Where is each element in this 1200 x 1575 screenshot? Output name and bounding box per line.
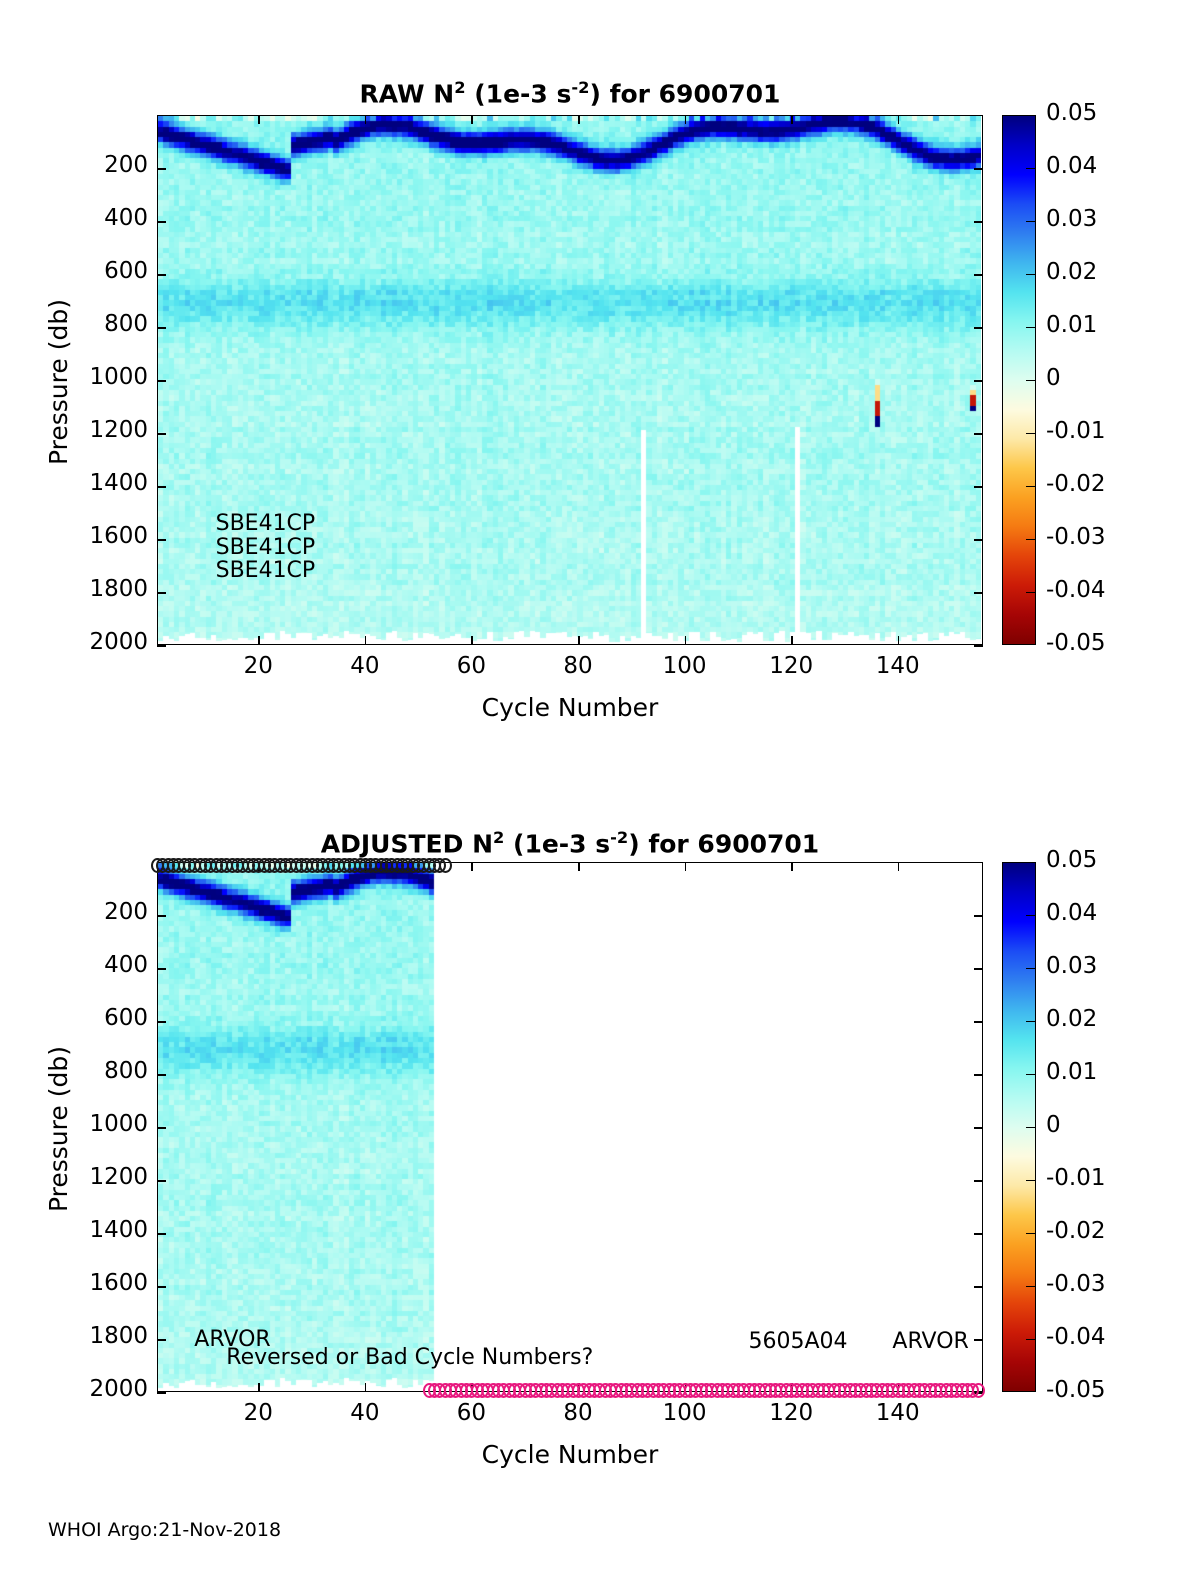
x-axis-tick-mark <box>258 115 260 124</box>
colorbar-tick-label: 0.02 <box>1046 259 1097 285</box>
colorbar-tick-mark <box>1026 1233 1035 1234</box>
y-axis-tick-label: 800 <box>104 311 148 337</box>
plot-annotation: Reversed or Bad Cycle Numbers? <box>226 1345 593 1370</box>
x-axis-label-raw: Cycle Number <box>157 693 983 722</box>
y-axis-tick-mark <box>974 327 983 329</box>
colorbar-tick-label: -0.01 <box>1046 418 1106 444</box>
chart-title-units-exponent: -2 <box>571 78 589 97</box>
colorbar-tick-label: -0.05 <box>1046 1377 1106 1403</box>
y-axis-tick-label: 1600 <box>89 1270 148 1296</box>
x-axis-tick-mark <box>578 115 580 124</box>
colorbar-tick-mark <box>1026 1339 1035 1340</box>
y-axis-tick-mark <box>157 1074 166 1076</box>
y-axis-tick-mark <box>157 1286 166 1288</box>
y-axis-tick-label: 400 <box>104 952 148 978</box>
colorbar-tick-mark <box>1026 1074 1035 1075</box>
y-axis-tick-label: 1000 <box>89 364 148 390</box>
x-axis-tick-label: 120 <box>751 1400 831 1426</box>
y-axis-tick-mark <box>974 1180 983 1182</box>
colorbar-tick-mark <box>1026 1180 1035 1181</box>
colorbar-tick-mark <box>1026 221 1035 222</box>
colorbar-tick-mark <box>1026 592 1035 593</box>
y-axis-tick-mark <box>157 327 166 329</box>
colorbar-tick-label: -0.02 <box>1046 1218 1106 1244</box>
plot-annotation: SBE41CP <box>216 558 316 583</box>
chart-title-text: RAW N <box>360 79 455 108</box>
colorbar-tick-label: -0.05 <box>1046 630 1106 656</box>
y-axis-tick-label: 1400 <box>89 470 148 496</box>
y-axis-tick-mark <box>974 1286 983 1288</box>
colorbar-tick-label: -0.03 <box>1046 524 1106 550</box>
chart-title-text: ADJUSTED N <box>321 829 493 858</box>
plot-annotation: SBE41CP <box>216 535 316 560</box>
y-axis-tick-mark <box>157 645 166 647</box>
x-axis-tick-mark <box>685 115 687 124</box>
y-axis-tick-label: 1000 <box>89 1111 148 1137</box>
y-axis-tick-mark <box>157 592 166 594</box>
x-axis-tick-label: 20 <box>218 653 298 679</box>
x-axis-tick-mark <box>898 636 900 645</box>
colorbar-tick-label: 0.02 <box>1046 1006 1097 1032</box>
x-axis-tick-mark <box>365 636 367 645</box>
chart-title-units: (1e-3 s <box>504 829 610 858</box>
y-axis-tick-mark <box>157 539 166 541</box>
colorbar-tick-label: 0.03 <box>1046 953 1097 979</box>
y-axis-tick-mark <box>974 1021 983 1023</box>
x-axis-tick-label: 40 <box>325 653 405 679</box>
colorbar-tick-mark <box>1026 539 1035 540</box>
colorbar-tick-label: 0.04 <box>1046 900 1097 926</box>
y-axis-tick-mark <box>157 1233 166 1235</box>
cycle-marker <box>439 858 452 873</box>
y-axis-tick-mark <box>157 968 166 970</box>
colorbar-tick-mark <box>1026 168 1035 169</box>
x-axis-tick-label: 100 <box>645 1400 725 1426</box>
plot-annotation: ARVOR <box>892 1329 968 1354</box>
x-axis-tick-label: 140 <box>858 1400 938 1426</box>
x-axis-tick-label: 80 <box>538 1400 618 1426</box>
y-axis-tick-mark <box>974 1127 983 1129</box>
x-axis-tick-mark <box>471 862 473 871</box>
y-axis-tick-label: 400 <box>104 205 148 231</box>
y-axis-tick-mark <box>157 221 166 223</box>
x-axis-tick-label: 60 <box>431 1400 511 1426</box>
chart-title-exponent: 2 <box>454 78 465 97</box>
colorbar-tick-label: 0.05 <box>1046 100 1097 126</box>
plot-annotation: SBE41CP <box>216 511 316 536</box>
y-axis-tick-mark <box>974 1074 983 1076</box>
y-axis-tick-mark <box>157 274 166 276</box>
colorbar-tick-mark <box>1026 486 1035 487</box>
x-axis-tick-mark <box>258 1383 260 1392</box>
chart-title-exponent: 2 <box>493 828 504 847</box>
colorbar-tick-mark <box>1026 1127 1035 1128</box>
x-axis-tick-mark <box>471 636 473 645</box>
y-axis-tick-mark <box>974 380 983 382</box>
chart-title-units-exponent: -2 <box>610 828 628 847</box>
x-axis-tick-mark <box>898 115 900 124</box>
colorbar-tick-label: 0.03 <box>1046 206 1097 232</box>
x-axis-tick-label: 20 <box>218 1400 298 1426</box>
footer-credit: WHOI Argo:21-Nov-2018 <box>48 1519 281 1541</box>
y-axis-tick-label: 200 <box>104 899 148 925</box>
y-axis-tick-mark <box>157 1180 166 1182</box>
y-axis-tick-label: 1800 <box>89 576 148 602</box>
y-axis-tick-label: 1600 <box>89 523 148 549</box>
x-axis-tick-mark <box>685 636 687 645</box>
heatmap-plot-adjusted[interactable] <box>157 862 983 1392</box>
y-axis-tick-mark <box>974 645 983 647</box>
x-axis-tick-mark <box>578 636 580 645</box>
y-axis-tick-mark <box>974 433 983 435</box>
y-axis-tick-mark <box>157 1021 166 1023</box>
x-axis-tick-label: 40 <box>325 1400 405 1426</box>
y-axis-tick-label: 600 <box>104 258 148 284</box>
y-axis-tick-label: 200 <box>104 152 148 178</box>
y-axis-tick-mark <box>157 1339 166 1341</box>
y-axis-tick-mark <box>157 1392 166 1394</box>
y-axis-tick-mark <box>974 221 983 223</box>
x-axis-tick-mark <box>791 862 793 871</box>
cycle-marker <box>972 1383 985 1398</box>
x-axis-tick-mark <box>365 1383 367 1392</box>
x-axis-tick-mark <box>898 862 900 871</box>
y-axis-tick-mark <box>157 433 166 435</box>
colorbar-tick-mark <box>1026 433 1035 434</box>
y-axis-tick-mark <box>974 168 983 170</box>
y-axis-tick-label: 1800 <box>89 1323 148 1349</box>
colorbar-tick-label: -0.03 <box>1046 1271 1106 1297</box>
y-axis-tick-mark <box>974 274 983 276</box>
colorbar-tick-label: 0 <box>1046 365 1061 391</box>
colorbar-tick-label: 0.01 <box>1046 312 1097 338</box>
x-axis-tick-label: 100 <box>645 653 725 679</box>
heatmap-canvas-adjusted <box>158 863 981 1390</box>
y-axis-tick-label: 1200 <box>89 1164 148 1190</box>
y-axis-tick-label: 1200 <box>89 417 148 443</box>
y-axis-tick-mark <box>157 915 166 917</box>
y-axis-tick-label: 2000 <box>89 629 148 655</box>
x-axis-tick-mark <box>685 862 687 871</box>
x-axis-tick-label: 140 <box>858 653 938 679</box>
y-axis-tick-mark <box>974 486 983 488</box>
colorbar-tick-mark <box>1026 327 1035 328</box>
chart-title-adjusted: ADJUSTED N2 (1e-3 s-2) for 6900701 <box>157 828 983 858</box>
y-axis-tick-label: 1400 <box>89 1217 148 1243</box>
panel-raw: RAW N2 (1e-3 s-2) for 6900701 Pressure (… <box>0 0 1200 780</box>
colorbar-tick-mark <box>1026 380 1035 381</box>
colorbar-tick-label: -0.04 <box>1046 577 1106 603</box>
panel-adjusted: ADJUSTED N2 (1e-3 s-2) for 6900701 Press… <box>0 740 1200 1500</box>
y-axis-tick-mark <box>157 380 166 382</box>
colorbar-tick-mark <box>1026 915 1035 916</box>
x-axis-tick-label: 80 <box>538 653 618 679</box>
colorbar-tick-mark <box>1026 1286 1035 1287</box>
x-axis-tick-label: 60 <box>431 653 511 679</box>
y-axis-label-adjusted: Pressure (db) <box>44 1046 73 1212</box>
chart-title-suffix: ) for 6900701 <box>628 829 819 858</box>
y-axis-tick-label: 600 <box>104 1005 148 1031</box>
y-axis-tick-mark <box>157 486 166 488</box>
x-axis-tick-mark <box>791 115 793 124</box>
chart-title-raw: RAW N2 (1e-3 s-2) for 6900701 <box>157 78 983 108</box>
colorbar-tick-label: 0.04 <box>1046 153 1097 179</box>
colorbar-tick-label: 0.01 <box>1046 1059 1097 1085</box>
x-axis-tick-mark <box>471 115 473 124</box>
y-axis-tick-mark <box>974 592 983 594</box>
chart-title-suffix: ) for 6900701 <box>589 79 780 108</box>
x-axis-tick-mark <box>791 636 793 645</box>
y-axis-tick-mark <box>157 168 166 170</box>
colorbar-tick-mark <box>1026 1021 1035 1022</box>
chart-title-units: (1e-3 s <box>466 79 572 108</box>
x-axis-label-adjusted: Cycle Number <box>157 1440 983 1469</box>
colorbar-tick-mark <box>1026 274 1035 275</box>
colorbar-tick-label: 0 <box>1046 1112 1061 1138</box>
plot-annotation: 5605A04 <box>749 1329 848 1354</box>
y-axis-tick-mark <box>974 915 983 917</box>
y-axis-tick-label: 2000 <box>89 1376 148 1402</box>
colorbar-tick-label: -0.02 <box>1046 471 1106 497</box>
x-axis-tick-mark <box>578 862 580 871</box>
colorbar-tick-label: -0.01 <box>1046 1165 1106 1191</box>
colorbar-tick-label: -0.04 <box>1046 1324 1106 1350</box>
y-axis-tick-mark <box>974 968 983 970</box>
y-axis-tick-mark <box>974 539 983 541</box>
colorbar-tick-mark <box>1026 968 1035 969</box>
y-axis-tick-mark <box>974 1339 983 1341</box>
x-axis-tick-mark <box>258 636 260 645</box>
x-axis-tick-mark <box>365 115 367 124</box>
y-axis-tick-mark <box>974 1233 983 1235</box>
x-axis-tick-label: 120 <box>751 653 831 679</box>
y-axis-label-raw: Pressure (db) <box>44 299 73 465</box>
y-axis-tick-mark <box>157 1127 166 1129</box>
y-axis-tick-label: 800 <box>104 1058 148 1084</box>
colorbar-tick-label: 0.05 <box>1046 847 1097 873</box>
